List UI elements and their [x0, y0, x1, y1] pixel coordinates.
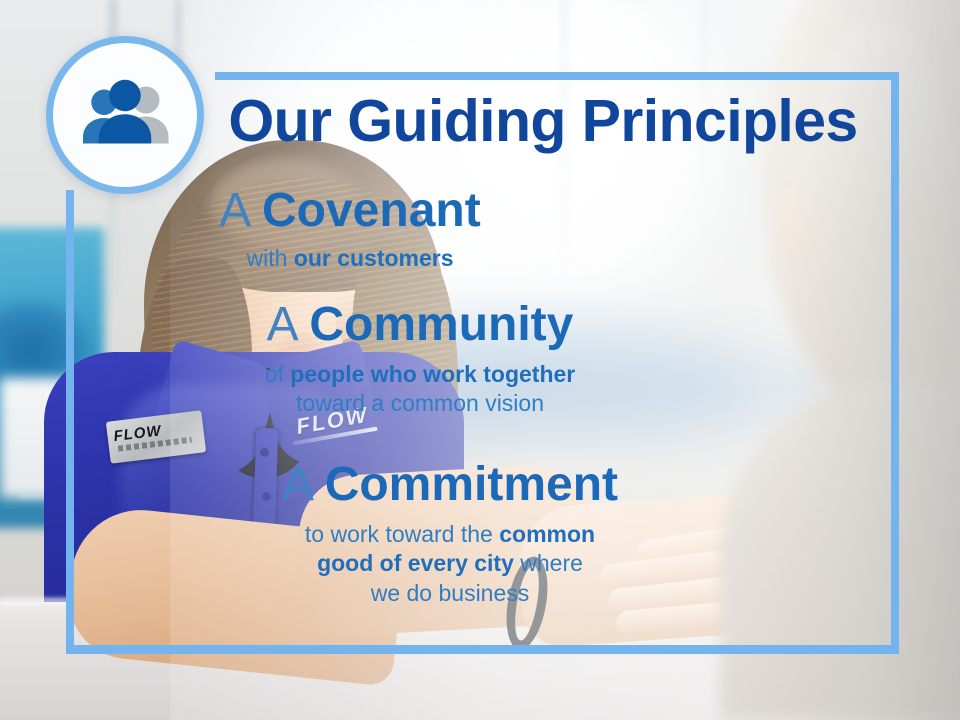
principle-keyword: Covenant [262, 184, 481, 237]
principle-body-line: toward a common vision [0, 389, 840, 418]
principle-covenant: A Covenant with our customers [0, 186, 700, 273]
principles-list: A Covenant with our customers A Communit… [0, 0, 960, 720]
principle-keyword: Community [309, 298, 573, 351]
principle-body: of people who work together toward a com… [0, 360, 840, 419]
principle-body: with our customers [0, 244, 700, 273]
principle-commitment: A Commitment to work toward the common g… [0, 460, 900, 608]
principle-body-line: to work toward the common [0, 520, 900, 549]
principle-community: A Community of people who work together … [0, 300, 840, 419]
principle-lead-word: A [219, 184, 248, 237]
principle-heading: A Commitment [0, 460, 900, 510]
principle-body-line: of people who work together [0, 360, 840, 389]
principle-lead-word: A [267, 298, 296, 351]
principle-body-line: good of every city where [0, 549, 900, 578]
principle-body-line: with our customers [0, 244, 700, 273]
principle-body-line: we do business [0, 579, 900, 608]
principle-heading: A Community [0, 300, 840, 350]
principle-body: to work toward the common good of every … [0, 520, 900, 608]
principle-keyword: Commitment [325, 458, 618, 511]
principle-lead-word: A [282, 458, 311, 511]
guiding-principles-graphic: FLOW FLOW [0, 0, 960, 720]
principle-heading: A Covenant [0, 186, 700, 236]
